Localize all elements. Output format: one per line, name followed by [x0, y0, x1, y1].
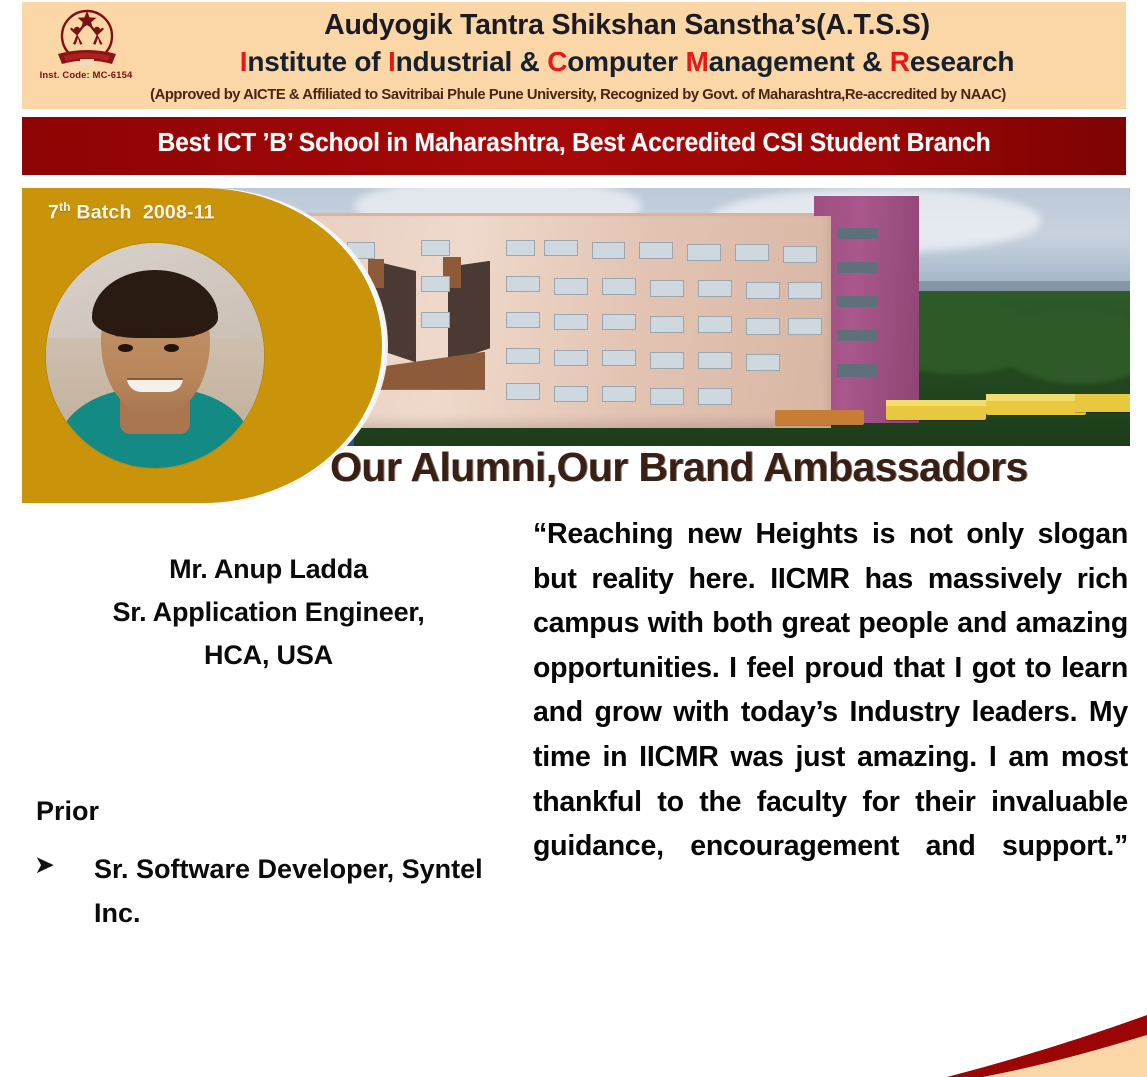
alumnus-company: HCA, USA: [26, 634, 511, 677]
alumnus-name: Mr. Anup Ladda: [26, 548, 511, 591]
award-banner-text: Best ICT ’B’ School in Maharashtra, Best…: [39, 129, 1110, 158]
alumnus-identity-block: Mr. Anup Ladda Sr. Application Engineer,…: [26, 548, 511, 678]
header-text-block: Audyogik Tantra Shikshan Sanstha’s(A.T.S…: [134, 2, 1126, 109]
section-title: Our Alumni,Our Brand Ambassadors: [330, 444, 1028, 491]
institute-code-label: Inst. Code: MC-6154: [30, 70, 142, 81]
alumni-testimonial-slide: Inst. Code: MC-6154 Audyogik Tantra Shik…: [0, 0, 1147, 1077]
prior-heading: Prior: [36, 796, 99, 827]
award-banner: Best ICT ’B’ School in Maharashtra, Best…: [22, 117, 1126, 175]
decorative-swoosh: [937, 1007, 1147, 1077]
bus-roof: [986, 394, 1086, 400]
batch-years: 2008-11: [143, 202, 215, 224]
approval-line: (Approved by AICTE & Affiliated to Savit…: [38, 86, 1118, 103]
school-bus: [1075, 394, 1130, 412]
batch-label: 7th Batch 2008-11: [48, 200, 215, 225]
atss-emblem-icon: [54, 6, 120, 72]
canopy-structure: [775, 410, 864, 425]
testimonial-quote: “Reaching new Heights is not only slogan…: [533, 512, 1128, 913]
batch-word: Batch: [76, 202, 131, 224]
alumnus-designation: Sr. Application Engineer,: [26, 591, 511, 634]
batch-ordinal: th: [59, 200, 71, 214]
institute-name: Institute of Industrial & Computer Manag…: [134, 46, 1120, 78]
society-name: Audyogik Tantra Shikshan Sanstha’s(A.T.S…: [134, 9, 1120, 42]
prior-role-item: Sr. Software Developer, Syntel Inc.: [36, 848, 536, 935]
avatar: [46, 243, 264, 468]
batch-number: 7: [48, 202, 59, 224]
institute-header: Inst. Code: MC-6154 Audyogik Tantra Shik…: [22, 2, 1126, 109]
swoosh-icon: [937, 1007, 1147, 1077]
bus-roof: [886, 400, 986, 406]
